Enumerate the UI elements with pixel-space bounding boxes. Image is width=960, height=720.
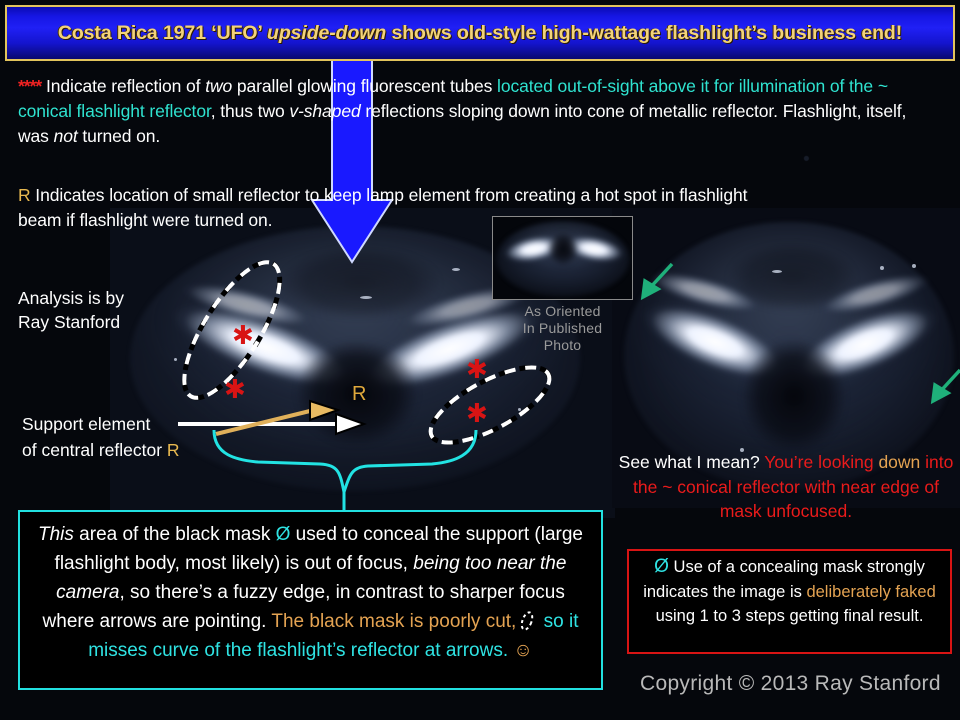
title-part-1: Costa Rica 1971 ‘UFO’ xyxy=(58,22,267,44)
title-part-2: shows old-style high-wattage flashlight’… xyxy=(386,22,902,44)
paragraph-two: R Indicates location of small reflector … xyxy=(18,183,778,233)
diameter-symbol-icon: Ø xyxy=(276,524,291,545)
support-label-text: of central reflector xyxy=(22,440,167,460)
cb-seg-1: area of the black mask xyxy=(74,524,276,545)
inset-caption-line-2: In Published xyxy=(492,320,633,337)
cb-period: . xyxy=(503,640,514,661)
p1-seg-2: parallel glowing fluorescent tubes xyxy=(232,76,497,96)
smiley-icon: ☺ xyxy=(513,640,532,661)
support-element-label: Support element of central reflector R xyxy=(22,411,180,463)
asterisk-marker: **** xyxy=(18,76,41,96)
cb-italic-1: This xyxy=(38,524,74,545)
photo-marker-r: R xyxy=(352,383,366,406)
rc-orange: down xyxy=(878,452,920,472)
support-label-line-1: Support element xyxy=(22,411,180,437)
title-text: Costa Rica 1971 ‘UFO’ upside-down shows … xyxy=(58,22,902,45)
inset-caption-line-1: As Oriented xyxy=(492,303,633,320)
p2-text: Indicates location of small reflector to… xyxy=(18,185,747,230)
analysis-line-1: Analysis is by xyxy=(18,286,124,310)
rc-white: See what I mean? xyxy=(619,452,765,472)
p1-italic-2: v-shaped xyxy=(289,101,360,121)
r-marker: R xyxy=(18,185,31,205)
support-label-line-2: of central reflector R xyxy=(22,437,180,463)
dashed-oval-inline-icon xyxy=(516,610,538,632)
diameter-symbol-icon-2: Ø xyxy=(654,556,669,577)
inset-caption-line-3: Photo xyxy=(492,337,633,354)
copyright-notice: Copyright © 2013 Ray Stanford xyxy=(640,672,941,696)
p1-seg-5: turned on. xyxy=(78,126,161,146)
cb-orange: The black mask is poorly cut, xyxy=(271,611,516,632)
rc-red-1: You’re looking xyxy=(764,452,873,472)
analysis-credit: Analysis is by Ray Stanford xyxy=(18,286,124,334)
p1-italic-3: not xyxy=(54,126,78,146)
title-italic: upside-down xyxy=(267,22,386,44)
p1-seg-1: Indicate reflection of xyxy=(41,76,205,96)
cyan-explanation-box: This area of the black mask Ø used to co… xyxy=(18,510,603,690)
inset-caption: As Oriented In Published Photo xyxy=(492,303,633,354)
title-banner: Costa Rica 1971 ‘UFO’ upside-down shows … xyxy=(5,5,955,61)
support-label-r: R xyxy=(167,440,180,460)
right-photo-caption: See what I mean? You’re looking down int… xyxy=(612,450,960,524)
paragraph-one: **** Indicate reflection of two parallel… xyxy=(18,74,938,149)
analysis-line-2: Ray Stanford xyxy=(18,310,124,334)
red-conclusion-box: Ø Use of a concealing mask strongly indi… xyxy=(627,549,952,654)
rb-seg-2: using 1 to 3 steps getting final result. xyxy=(656,607,924,625)
rb-orange: deliberately faked xyxy=(806,583,935,601)
p1-italic-1: two xyxy=(205,76,232,96)
p1-seg-3: , thus two xyxy=(211,101,290,121)
